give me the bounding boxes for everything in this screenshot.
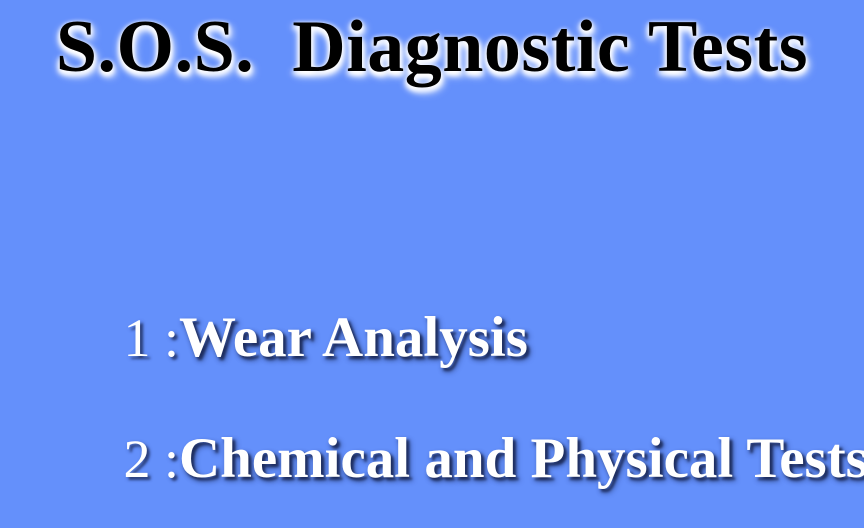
list-item: 2 :Chemical and Physical Tests [0, 282, 864, 400]
presentation-slide: S.O.S. Diagnostic Tests 1 :Wear Analysis… [0, 0, 864, 528]
diagnostic-tests-list: 1 :Wear Analysis 2 :Chemical and Physica… [0, 170, 864, 528]
list-item: 3 :Oil Condition Analysis [0, 400, 864, 528]
list-item: 1 :Wear Analysis [0, 170, 864, 282]
slide-title: S.O.S. Diagnostic Tests [0, 8, 864, 88]
